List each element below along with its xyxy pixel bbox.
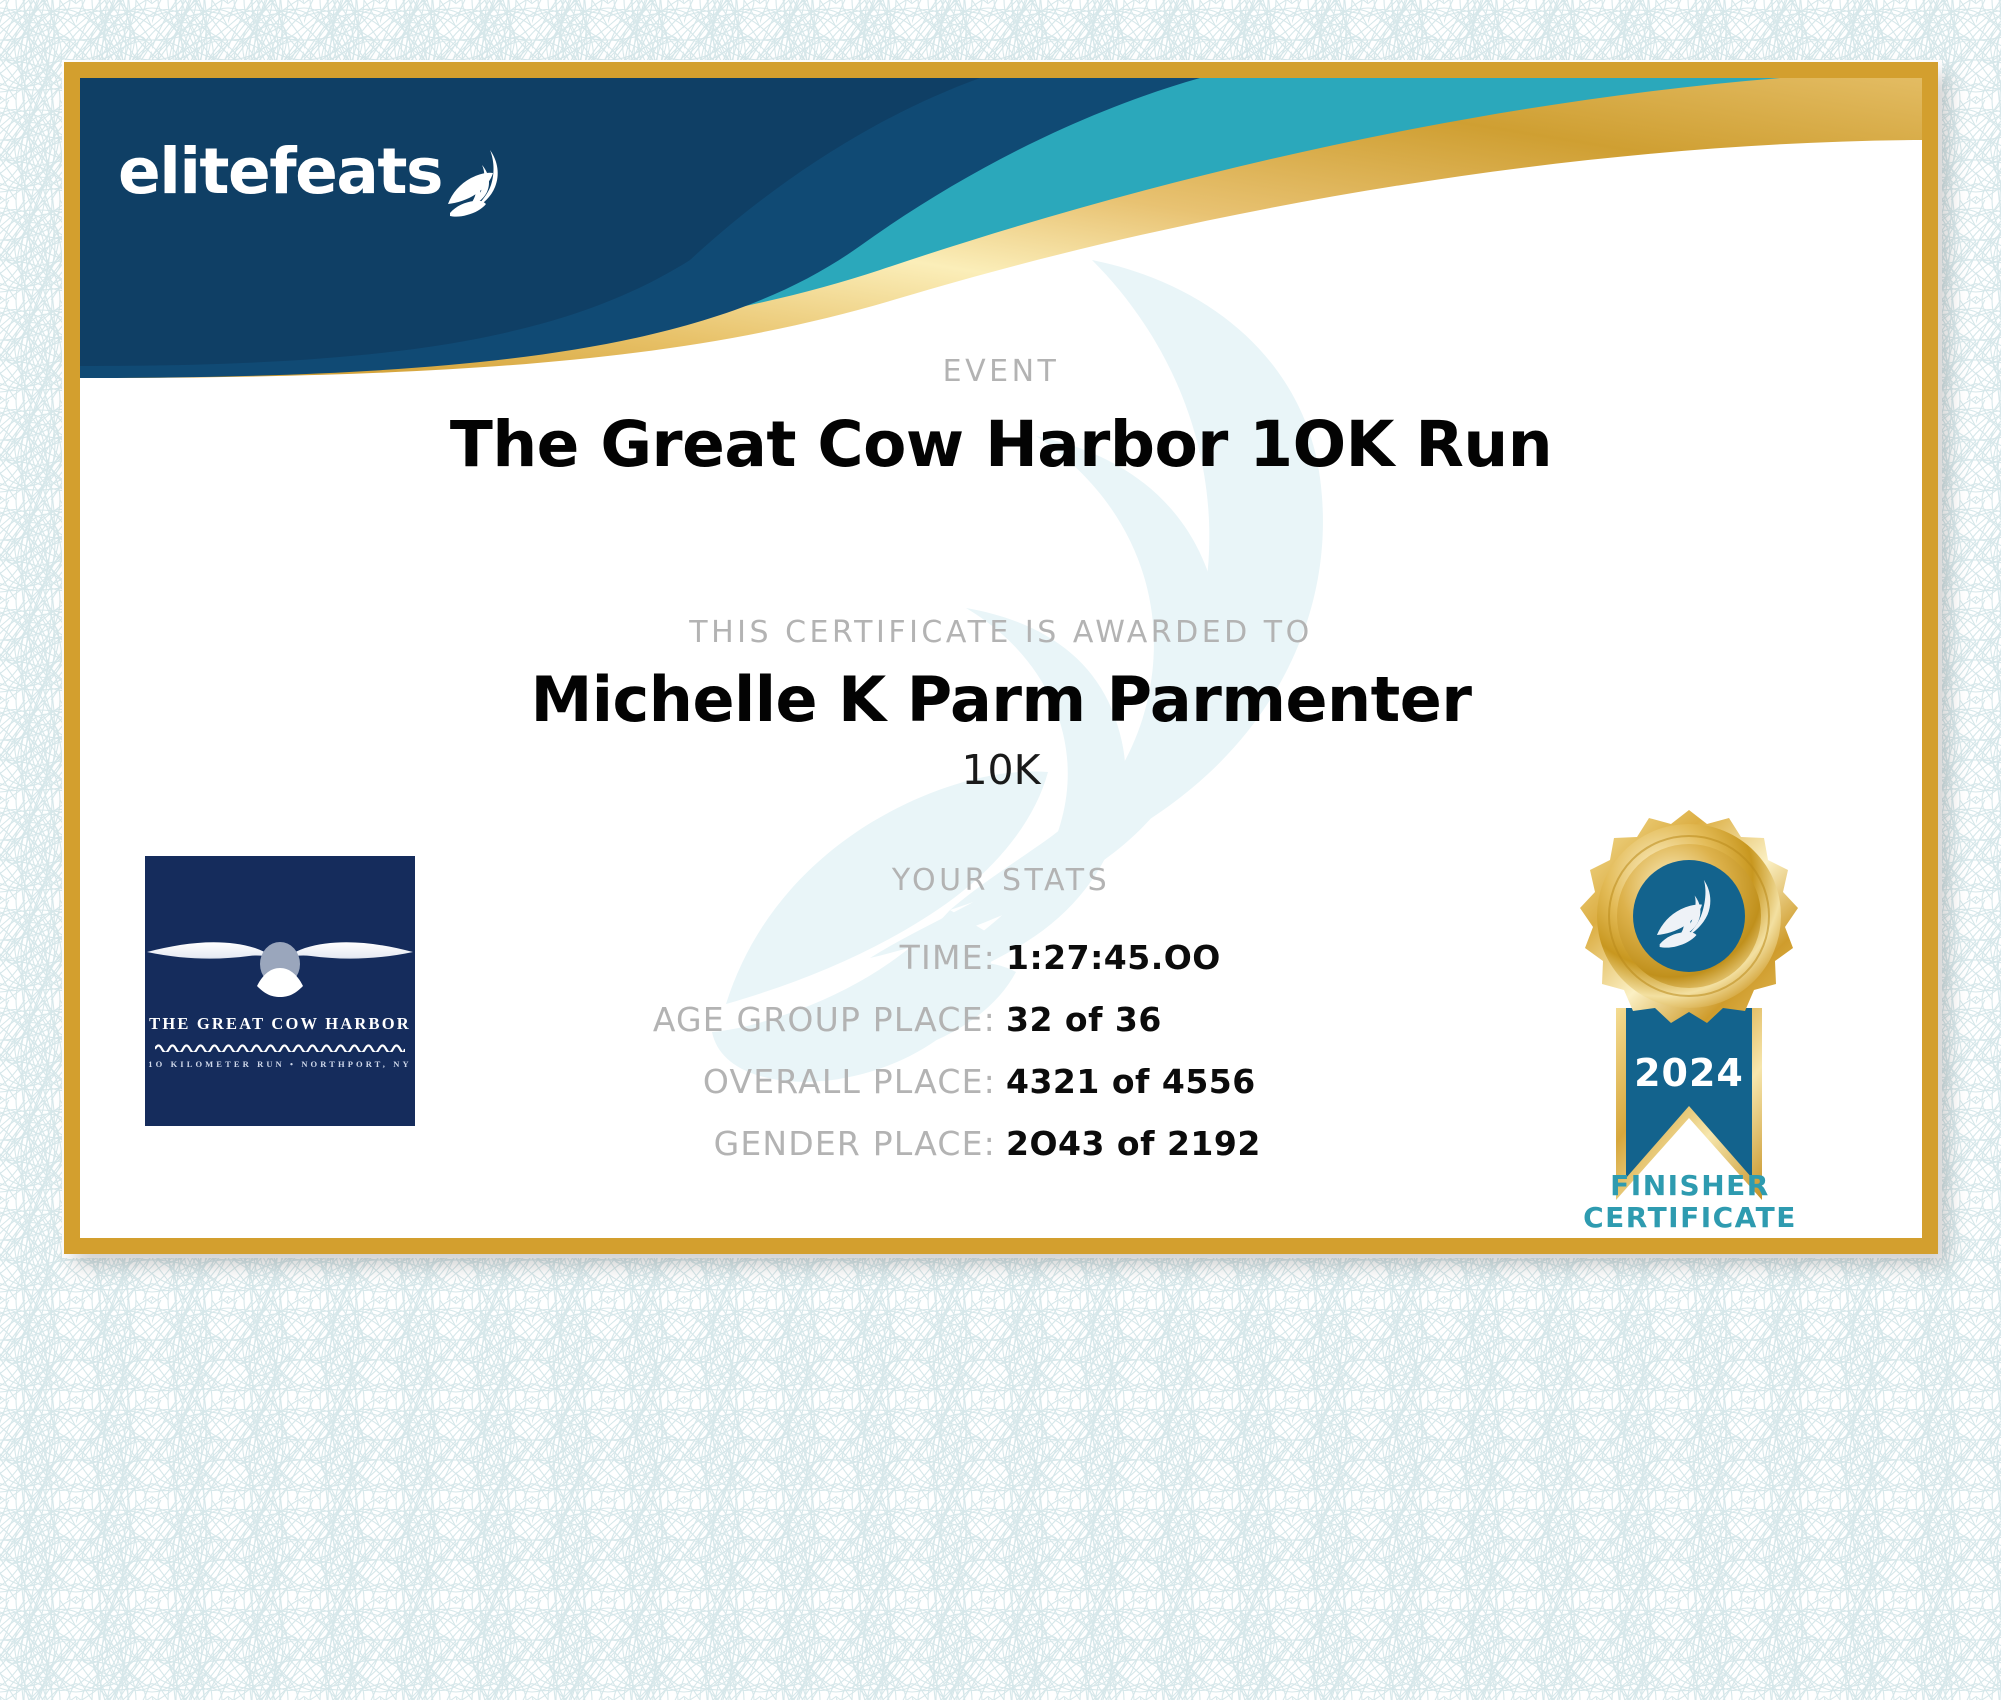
race-logo: THE GREAT COW HARBOR 1O KILOMETER RUN • … [145,856,415,1126]
stat-value-age-group-place: 32 of 36 [1006,1000,1606,1039]
stat-value-overall-place: 4321 of 4556 [1006,1062,1606,1101]
seagull-icon [145,856,415,1016]
race-logo-title: THE GREAT COW HARBOR [145,1014,415,1034]
stat-label-time: TIME: [396,938,1006,977]
participant-name: Michelle K Parm Parmenter [80,663,1922,736]
awarded-to-label: THIS CERTIFICATE IS AWARDED TO [80,615,1922,650]
finisher-caption-line2: CERTIFICATE [1510,1202,1870,1234]
wave-divider [155,1042,405,1052]
event-label: EVENT [80,354,1922,389]
finisher-caption-line1: FINISHER [1510,1170,1870,1202]
brand-lockup: elitefeats [118,140,508,203]
finisher-medal: 2024 [1544,800,1834,1220]
race-logo-subtitle: 1O KILOMETER RUN • NORTHPORT, NY [145,1059,415,1069]
stat-value-time: 1:27:45.OO [1006,938,1606,977]
stat-value-gender-place: 2O43 of 2192 [1006,1124,1606,1163]
stat-label-overall-place: OVERALL PLACE: [396,1062,1006,1101]
stat-label-age-group-place: AGE GROUP PLACE: [396,1000,1006,1039]
winged-foot-icon [446,147,508,219]
medal-year: 2024 [1634,1051,1744,1095]
certificate-card: elitefeats EVENT The Great Cow Harbor 1O… [64,62,1938,1254]
race-distance: 10K [80,746,1922,794]
brand-wordmark: elitefeats [118,140,442,203]
stat-label-gender-place: GENDER PLACE: [396,1124,1006,1163]
finisher-caption: FINISHER CERTIFICATE [1510,1170,1870,1235]
event-name: The Great Cow Harbor 1OK Run [80,408,1922,481]
